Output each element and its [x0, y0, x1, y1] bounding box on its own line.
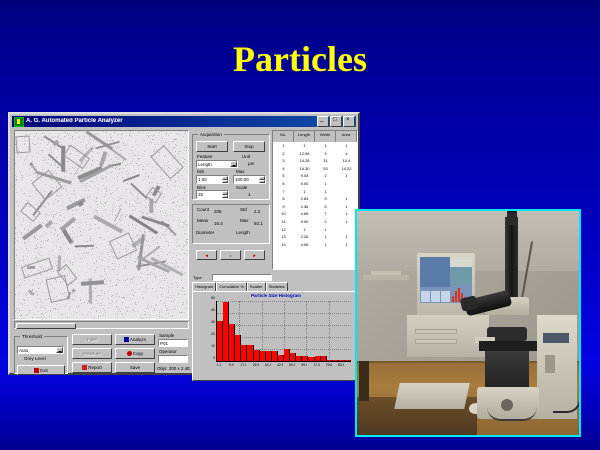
count-value: 205	[214, 209, 222, 215]
max-spinner[interactable]: 100.00	[233, 175, 266, 184]
table-row[interactable]: 1111	[273, 142, 357, 150]
filter-button[interactable]: Filter	[72, 334, 112, 345]
std-label: Std	[240, 207, 247, 213]
table-column-header: Area	[336, 131, 357, 142]
measure-button-label: Measure	[83, 351, 101, 356]
feature-combo-value: Length	[198, 162, 212, 167]
table-cell	[336, 180, 357, 188]
chart-body: Particle Size Histogram 01020304050 1.19…	[192, 291, 358, 381]
scale-value: 1	[248, 192, 251, 198]
left-control-grid: Threshold Auto Grey Level Exit Filter Me…	[14, 332, 189, 385]
table-row[interactable]: 82.8431	[273, 195, 357, 203]
table-cell: 5	[273, 172, 294, 180]
copy-icon	[127, 351, 132, 356]
particle-analyzer-window: A. G. Automated Particle Analyzer _ □ × …	[8, 112, 360, 375]
photo-scope-stage	[479, 341, 537, 351]
table-cell: 2	[315, 172, 336, 180]
window-client-area: Threshold Auto Grey Level Exit Filter Me…	[12, 128, 356, 371]
table-cell: 5	[315, 203, 336, 211]
table-cell	[336, 188, 357, 196]
table-row[interactable]: 1211	[273, 226, 357, 234]
table-column-header: Length	[294, 131, 315, 142]
table-cell: 9.00	[294, 180, 315, 188]
photo-keyboard	[394, 383, 470, 409]
table-row[interactable]: 59.0421	[273, 172, 357, 180]
table-cell: 10	[273, 210, 294, 218]
chart-x-axis-labels: 1.19.417.625.934.242.550.859.067.375.683…	[216, 362, 350, 370]
table-cell: 2	[273, 150, 294, 158]
report-button-label: Report	[88, 365, 102, 370]
table-cell: 4	[336, 150, 357, 158]
chart-y-tick: 50	[211, 296, 215, 300]
table-cell: 2.36	[294, 203, 315, 211]
table-cell: 9	[273, 203, 294, 211]
mean-label: Mean	[197, 218, 208, 224]
chart-title: Particle Size Histogram	[193, 293, 359, 299]
prev-image-button[interactable]: ◄	[196, 250, 217, 260]
maximize-icon: □	[333, 117, 337, 124]
bins-spin-buttons[interactable]	[222, 191, 228, 198]
bins-spinner[interactable]: 25	[196, 190, 229, 199]
chart-bar	[345, 360, 351, 361]
chart-y-tick: 40	[211, 308, 215, 312]
table-cell: 1	[336, 142, 357, 150]
scale-label: Scale	[236, 185, 247, 191]
close-button[interactable]: ×	[343, 116, 355, 127]
table-cell: 8	[273, 195, 294, 203]
chart-plot-area	[216, 301, 351, 362]
save-button-label: Save	[130, 365, 140, 370]
threshold-combo[interactable]: Auto	[17, 346, 64, 354]
table-cell: 53	[315, 165, 336, 173]
table-cell: 4	[273, 165, 294, 173]
table-row[interactable]: 119.0021	[273, 218, 357, 226]
table-cell: 1	[315, 188, 336, 196]
sample-value: P01	[160, 341, 168, 346]
photo-cable-2	[487, 407, 537, 421]
table-cell: 12.06	[294, 150, 315, 158]
photo-cable	[553, 371, 579, 413]
stop-button-label: Stop	[244, 144, 253, 149]
table-cell: 14.28	[294, 157, 315, 165]
chart-bars	[217, 301, 351, 361]
chart-y-tick: 10	[211, 344, 215, 348]
mean-value: 16.4	[214, 221, 223, 227]
report-button[interactable]: Report	[72, 362, 112, 373]
particle-image-canvas	[15, 131, 188, 319]
operator-field[interactable]	[158, 355, 188, 363]
table-cell: 4.06	[294, 241, 315, 249]
exit-button[interactable]: Exit	[17, 365, 65, 375]
table-cell: 3	[315, 195, 336, 203]
table-cell: 14.22	[336, 165, 357, 173]
min-spin-buttons[interactable]	[222, 176, 228, 183]
min-spinner[interactable]: 1.00	[196, 175, 229, 184]
table-row[interactable]: 132.2611	[273, 233, 357, 241]
lab-setup-photo	[355, 209, 581, 437]
exit-button-label: Exit	[40, 368, 48, 373]
chevron-down-icon[interactable]	[56, 347, 63, 353]
prev-image-icon: ◄	[204, 253, 208, 258]
acquisition-panel: Acquisition Start Stop Feature Unit Leng…	[192, 130, 270, 270]
chart-type-label: Type	[193, 274, 202, 281]
filter-button-label: Filter	[87, 337, 97, 342]
copy-button-label: Copy	[133, 351, 144, 356]
chart-y-axis-labels: 01020304050	[199, 298, 215, 364]
exit-icon	[34, 368, 39, 373]
table-header-row: No.LengthWidthArea	[273, 131, 357, 142]
chart-y-tick: 20	[211, 332, 215, 336]
table-cell: 3	[273, 157, 294, 165]
grey-level-label: Grey Level	[24, 356, 46, 362]
table-row[interactable]: 314.283110.4	[273, 157, 357, 165]
chart-tab[interactable]: Scatter	[247, 282, 266, 291]
table-cell: 1	[315, 233, 336, 241]
close-icon: ×	[346, 117, 350, 124]
table-cell: 9.00	[294, 218, 315, 226]
unit-value: µm	[248, 161, 254, 167]
table-column-header: No.	[273, 131, 294, 142]
table-cell: 14	[273, 241, 294, 249]
maxstat-value: 92.1	[254, 221, 263, 227]
table-cell: 11	[273, 218, 294, 226]
photo-scope-camera-top	[509, 211, 516, 213]
table-body[interactable]: 1111212.0634314.283110.4416.305314.2259.…	[273, 142, 357, 269]
acquisition-group-caption: Acquisition	[198, 132, 224, 138]
min-value: 1.00	[198, 177, 207, 182]
maximize-button[interactable]: □	[330, 116, 342, 127]
threshold-group-caption: Threshold	[20, 334, 44, 340]
report-icon	[82, 365, 87, 370]
table-row[interactable]: 92.3651	[273, 203, 357, 211]
table-cell	[336, 226, 357, 234]
table-cell: 1	[294, 226, 315, 234]
chart-y-tick: 0	[213, 356, 215, 360]
next-image-icon: ►	[252, 253, 256, 258]
analyze-icon	[124, 337, 129, 342]
table-cell: 6	[273, 180, 294, 188]
table-row[interactable]: 104.6871	[273, 210, 357, 218]
analyze-button-label: Analyze	[130, 337, 146, 342]
table-cell: 1	[336, 195, 357, 203]
save-button[interactable]: Save	[115, 362, 155, 373]
table-cell: 1	[336, 241, 357, 249]
start-button-label: Start	[207, 144, 217, 149]
slide-canvas: Particles A. G. Automated Particle Analy…	[0, 0, 600, 450]
table-row[interactable]: 416.305314.22	[273, 165, 357, 173]
photo-content	[357, 211, 579, 435]
table-cell: 4.68	[294, 210, 315, 218]
particle-image-view[interactable]	[14, 130, 189, 320]
count-label: Count	[197, 207, 209, 213]
chart-type-field[interactable]	[212, 274, 272, 281]
maxstat-label: Max	[240, 218, 249, 224]
table-cell: 1	[336, 203, 357, 211]
table-cell: 1	[294, 188, 315, 196]
table-cell: 1	[336, 218, 357, 226]
table-cell: 1	[315, 226, 336, 234]
stop-button[interactable]: Stop	[233, 141, 265, 152]
minimize-icon: _	[320, 116, 323, 123]
table-cell: 31	[315, 157, 336, 165]
measure-button[interactable]: Measure	[72, 348, 112, 359]
start-button[interactable]: Start	[196, 141, 228, 152]
chart-x-tick	[344, 362, 350, 370]
sample-field[interactable]: P01	[158, 339, 188, 347]
table-row[interactable]: 212.0634	[273, 150, 357, 158]
table-cell: 2.26	[294, 233, 315, 241]
reset-image-icon: =	[229, 253, 232, 258]
threshold-combo-value: Auto	[19, 348, 28, 353]
photo-desk-leg	[359, 361, 369, 401]
chart-tab[interactable]: Histogram	[192, 282, 216, 291]
chart-y-tick: 30	[211, 320, 215, 324]
status-text: Objs: 200 x 2.4E	[157, 366, 190, 372]
chart-panel: Type HistogramCumulative %ScatterStatist…	[192, 274, 358, 385]
photo-monitor-screen	[420, 257, 472, 303]
table-cell: 1	[336, 210, 357, 218]
table-cell: 1	[315, 180, 336, 188]
copy-button[interactable]: Copy	[115, 348, 155, 359]
chart-tab[interactable]: Statistics	[266, 282, 288, 291]
window-title: A. G. Automated Particle Analyzer	[26, 118, 316, 125]
app-icon	[14, 117, 24, 127]
table-cell: 1	[315, 142, 336, 150]
table-cell: 1	[315, 241, 336, 249]
chevron-down-icon[interactable]	[230, 161, 237, 167]
slide-title: Particles	[0, 38, 600, 80]
table-cell: 12	[273, 226, 294, 234]
feature-combo[interactable]: Length	[196, 160, 238, 168]
table-cell: 13	[273, 233, 294, 241]
table-cell: 1	[336, 233, 357, 241]
table-cell: 2.84	[294, 195, 315, 203]
particle-data-table[interactable]: No.LengthWidthArea 1111212.0634314.28311…	[272, 130, 358, 270]
image-hscroll-thumb[interactable]	[16, 323, 76, 329]
photo-scope-camera	[507, 211, 517, 225]
max-spin-buttons[interactable]	[259, 176, 265, 183]
photo-computer-tower	[407, 315, 489, 357]
std-value: 2.2	[254, 209, 260, 215]
diameter-label: Diameter	[196, 230, 214, 236]
table-row[interactable]: 711	[273, 188, 357, 196]
table-column-header: Width	[315, 131, 336, 142]
minimize-button[interactable]: _	[317, 116, 329, 127]
reset-image-button[interactable]: =	[220, 250, 241, 260]
table-cell: 1	[294, 142, 315, 150]
table-row[interactable]: 144.0611	[273, 241, 357, 249]
window-titlebar[interactable]: A. G. Automated Particle Analyzer _ □ ×	[12, 116, 356, 127]
table-cell: 2	[315, 218, 336, 226]
table-cell: 3	[315, 150, 336, 158]
next-image-button[interactable]: ►	[244, 250, 265, 260]
table-cell: 16.30	[294, 165, 315, 173]
table-cell: 7	[315, 210, 336, 218]
table-row[interactable]: 69.001	[273, 180, 357, 188]
table-cell: 7	[273, 188, 294, 196]
max-value: 100.00	[235, 177, 249, 182]
unit-label: Unit	[242, 154, 250, 160]
photo-scope-column	[505, 217, 518, 299]
table-cell: 10.4	[336, 157, 357, 165]
bins-value: 25	[198, 192, 203, 197]
analyze-button[interactable]: Analyze	[115, 334, 155, 345]
table-cell: 9.04	[294, 172, 315, 180]
table-cell: 1	[336, 172, 357, 180]
lengthstat-label: Length	[236, 230, 250, 236]
image-hscrollbar[interactable]	[14, 321, 189, 329]
photo-monitor-base	[363, 275, 409, 280]
chart-tab[interactable]: Cumulative %	[216, 282, 247, 291]
chart-tabs[interactable]: HistogramCumulative %ScatterStatistics	[192, 282, 288, 291]
table-cell: 1	[273, 142, 294, 150]
